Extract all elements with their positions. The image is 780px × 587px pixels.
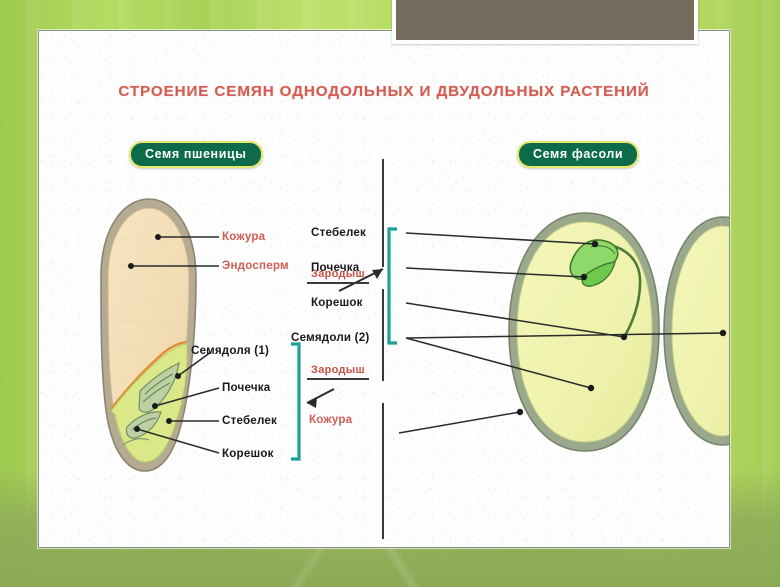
bracket-wheat-embryo [291,344,299,459]
label-embryo-wheat: Зародыш [311,364,365,376]
bean-seed-illustration [509,213,730,451]
badge-wheat-seed: Семя пшеницы [129,141,263,168]
badge-bean-seed: Семя фасоли [517,141,639,168]
leader-bean-stemlet [406,233,595,244]
bean-plumule [570,240,617,279]
diagram-illustrations [39,31,729,547]
center-divider-middle [382,289,384,381]
bean-plumule-leaf [582,262,615,286]
wheat-radicle-shape [126,412,161,438]
slide: СТРОЕНИЕ СЕМЯН ОДНОДОЛЬНЫХ И ДВУДОЛЬНЫХ … [0,0,780,587]
label-wheat-seed-coat: Кожура [222,230,265,243]
bean-left-cotyledon [517,222,652,442]
bracket-bean-embryo [389,229,397,343]
leader-bean-plumule [406,268,584,277]
paper-texture [39,31,729,547]
label-wheat-cotyledon: Семядоля (1) [191,344,269,357]
page-title: СТРОЕНИЕ СЕМЯН ОДНОДОЛЬНЫХ И ДВУДОЛЬНЫХ … [39,83,729,100]
label-bean-stemlet: Стебелек [311,226,366,239]
leader-bean-seed-coat [399,412,520,433]
bean-leader-dots [517,241,726,415]
wheat-leader-dots [128,234,181,432]
label-bean-radicle: Корешок [311,296,363,309]
label-wheat-plumule: Почечка [222,381,270,394]
wheat-plumule-vein [145,374,173,394]
wheat-seed-coat [101,199,196,471]
arrow-wheat-embryo [307,389,334,408]
leader-bean-cotyledon-right [406,333,723,338]
label-bean-plumule: Почечка [311,261,359,274]
wheat-plumule-vein-2 [143,383,170,402]
bean-right-cotyledon [672,226,730,436]
label-wheat-endosperm: Эндосперм [222,259,289,272]
leader-wheat-plumule [155,388,219,406]
wheat-seed-illustration [101,199,196,471]
gray-overlay-rectangle [392,0,698,44]
wheat-endosperm [108,208,189,461]
label-wheat-radicle: Корешок [222,447,274,460]
center-divider-bottom [382,403,384,539]
wheat-radicle-vein [132,418,156,430]
bean-right-seed-coat [664,217,730,445]
bean-plumule-vein [591,246,615,254]
leader-wheat-radicle [137,429,219,453]
label-bean-seed-coat: Кожура [309,413,352,426]
leader-bean-radicle [406,303,624,337]
diagram-leader-lines [39,31,729,547]
wheat-plumule-shape [139,363,179,412]
center-divider-top [382,159,384,267]
wheat-stemlet-vein [123,439,149,445]
wheat-embryo-boundary [111,342,186,409]
wheat-embryo [111,344,187,462]
bean-left-seed-coat [509,213,659,451]
content-panel: СТРОЕНИЕ СЕМЯН ОДНОДОЛЬНЫХ И ДВУДОЛЬНЫХ … [38,30,730,548]
bean-embryo-axis [595,244,640,337]
leader-bean-cotyledon-left [406,338,591,388]
wheat-endosperm-texture [115,237,168,411]
label-bean-cotyledons: Семядоли (2) [291,331,369,344]
label-wheat-stemlet: Стебелек [222,414,277,427]
